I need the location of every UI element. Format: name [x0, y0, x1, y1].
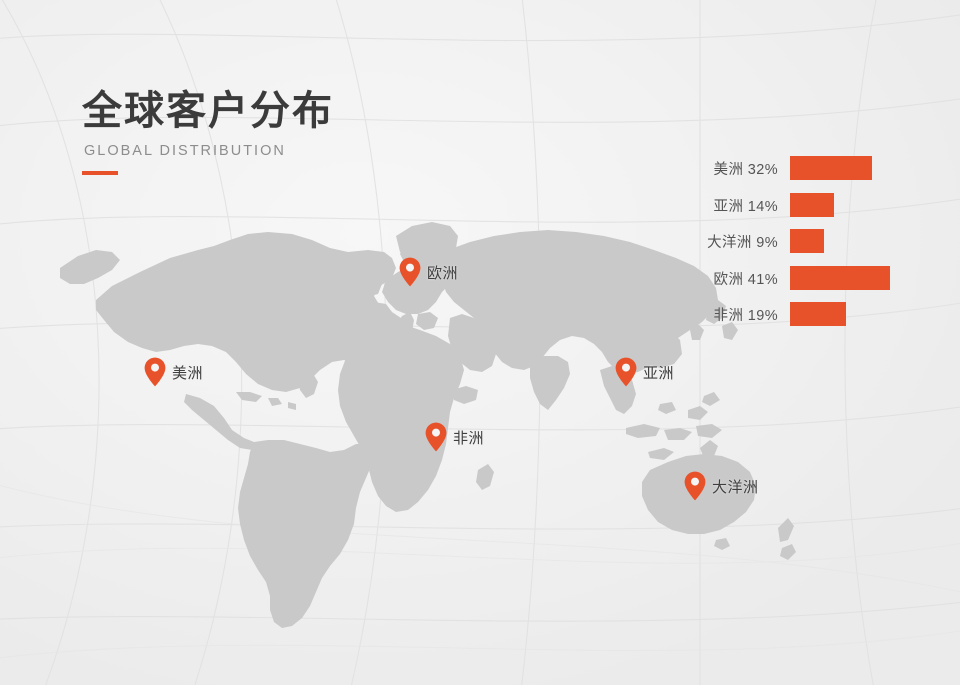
table-row[interactable]: 亚洲 14%: [600, 193, 940, 217]
map-marker-label: 亚洲: [643, 362, 674, 383]
page-subtitle: GLOBAL DISTRIBUTION: [84, 143, 334, 159]
map-marker-oceania[interactable]: 大洋洲: [684, 471, 759, 501]
table-row[interactable]: 大洋洲 9%: [600, 229, 940, 253]
map-marker-label: 非洲: [453, 427, 484, 448]
bar-fill: [790, 302, 846, 326]
table-row[interactable]: 美洲 32%: [600, 156, 940, 180]
bar-track: [790, 302, 940, 326]
bar-track: [790, 229, 940, 253]
bar-track: [790, 266, 940, 290]
bar-fill: [790, 156, 872, 180]
accent-underline: [82, 171, 118, 175]
map-marker-americas[interactable]: 美洲: [144, 357, 203, 387]
bar-fill: [790, 193, 834, 217]
bar-label: 美洲 32%: [600, 158, 790, 179]
bar-label: 亚洲 14%: [600, 195, 790, 216]
page-title: 全球客户分布: [82, 90, 334, 132]
map-marker-label: 美洲: [172, 362, 203, 383]
location-pin-icon: [684, 471, 706, 501]
bar-fill: [790, 266, 890, 290]
map-marker-label: 欧洲: [427, 262, 458, 283]
location-pin-icon: [425, 422, 447, 452]
bar-label: 欧洲 41%: [600, 268, 790, 289]
location-pin-icon: [615, 357, 637, 387]
table-row[interactable]: 非洲 19%: [600, 302, 940, 326]
bar-label: 非洲 19%: [600, 304, 790, 325]
map-marker-label: 大洋洲: [712, 476, 759, 497]
bar-track: [790, 156, 940, 180]
location-pin-icon: [399, 257, 421, 287]
table-row[interactable]: 欧洲 41%: [600, 266, 940, 290]
map-marker-asia[interactable]: 亚洲: [615, 357, 674, 387]
bar-track: [790, 193, 940, 217]
bar-fill: [790, 229, 824, 253]
map-marker-africa[interactable]: 非洲: [425, 422, 484, 452]
location-pin-icon: [144, 357, 166, 387]
map-marker-europe[interactable]: 欧洲: [399, 257, 458, 287]
heading-block: 全球客户分布 GLOBAL DISTRIBUTION: [82, 90, 334, 175]
bar-label: 大洋洲 9%: [600, 231, 790, 252]
slide-canvas: 全球客户分布 GLOBAL DISTRIBUTION 美洲 欧洲 亚洲 非洲 大…: [0, 0, 960, 685]
